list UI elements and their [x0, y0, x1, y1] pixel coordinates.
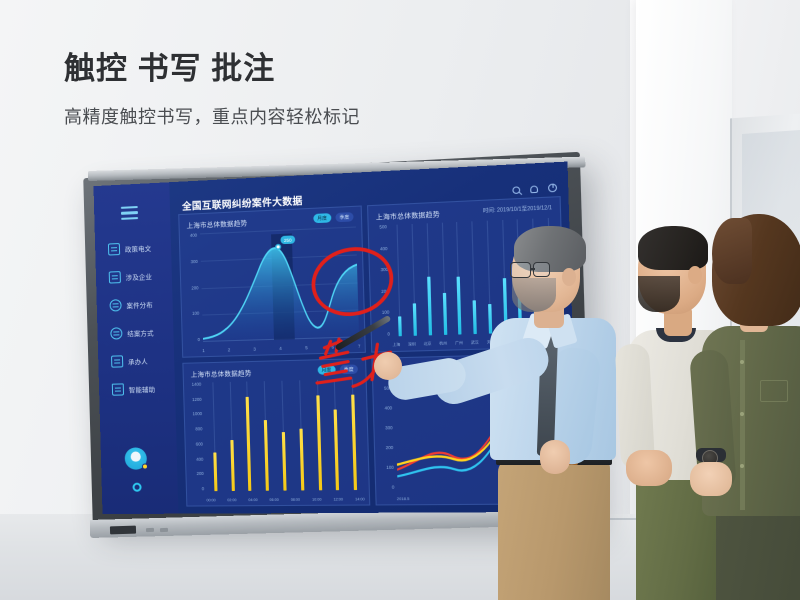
toggle-quarterly[interactable]: 季度: [335, 212, 353, 222]
x-tick: 00:00: [206, 498, 215, 502]
y-tick: 100: [380, 465, 394, 470]
sidebar-label-settlement: 结案方式: [127, 328, 154, 338]
bar-column: [344, 379, 365, 490]
lock-icon: [112, 383, 124, 395]
y-tick: 400: [190, 456, 203, 461]
bar: [299, 429, 304, 490]
y-tick: 1400: [188, 382, 201, 387]
eyeglasses: [510, 262, 531, 278]
distribution-icon: [109, 299, 121, 311]
y-tick: 600: [190, 441, 203, 446]
panel-1-tooltip: 250: [280, 236, 294, 244]
x-tick: 6: [331, 344, 334, 349]
y-tick: 0: [380, 485, 394, 490]
bar: [264, 420, 269, 490]
y-tick: 800: [189, 426, 202, 431]
bar: [351, 394, 357, 490]
sidebar-label-person: 承办人: [128, 356, 148, 366]
person-icon: [111, 355, 123, 367]
sidebar-label-assist: 智能辅助: [129, 384, 156, 394]
port-indicator-2: [160, 528, 168, 532]
sidebar-item-policy[interactable]: 政策电文: [95, 235, 171, 262]
y-tick: 500: [373, 224, 387, 230]
port-indicator-1: [146, 528, 154, 532]
y-tick: 200: [190, 471, 203, 476]
y-tick: 1000: [189, 411, 202, 416]
x-tick: 2018.5: [397, 497, 410, 501]
y-tick: 100: [186, 311, 199, 317]
company-icon: [109, 271, 121, 283]
avatar-status-dot: [142, 463, 148, 469]
sidebar-item-settlement[interactable]: 结案方式: [97, 320, 174, 346]
panel-3-toggles: 月度 季度: [317, 364, 358, 374]
panel-3-x-axis: 00:0002:0004:0006:0008:0010:0012:0014:00: [206, 497, 364, 502]
y-tick: 300: [374, 267, 388, 273]
x-tick: 02:00: [227, 498, 236, 502]
y-tick: 1200: [188, 397, 201, 402]
y-tick: 200: [185, 285, 198, 291]
panel-1-plot: 250: [200, 227, 359, 342]
x-tick: 5: [305, 345, 308, 350]
bar: [213, 452, 217, 491]
bar: [334, 410, 339, 491]
bar: [230, 440, 235, 491]
usb-port: [110, 526, 136, 535]
x-tick: 14:00: [355, 497, 365, 501]
sidebar-item-company[interactable]: 涉及企业: [96, 263, 172, 290]
y-tick: 300: [379, 425, 393, 430]
page-subtitle: 高精度触控书写，重点内容轻松标记: [64, 103, 360, 129]
panel-1-toggles: 月度 季度: [313, 212, 354, 223]
panel-3-plot: [204, 379, 364, 491]
sidebar-label-policy: 政策电文: [125, 243, 152, 253]
sidebar-label-distribution: 案件分布: [126, 300, 153, 310]
x-tick: 上海: [392, 343, 400, 348]
bar: [427, 277, 432, 335]
headline-block: 触控 书写 批注 高精度触控书写，重点内容轻松标记: [64, 50, 360, 129]
policy-icon: [108, 243, 120, 256]
sidebar-item-assist[interactable]: 智能辅助: [99, 376, 176, 402]
x-tick: 08:00: [291, 498, 301, 502]
toggle-monthly-2[interactable]: 月度: [317, 365, 335, 375]
bar: [398, 316, 402, 336]
bar: [246, 397, 252, 491]
x-tick: 4: [279, 346, 282, 351]
y-tick: 400: [378, 405, 392, 410]
sidebar-item-person[interactable]: 承办人: [98, 348, 175, 374]
x-tick: 北京: [424, 342, 432, 347]
settlement-icon: [110, 327, 122, 339]
people-group: [440, 0, 800, 600]
user-avatar[interactable]: [124, 447, 147, 469]
panel-4-y-axis: 500 400 300 200 100 0: [378, 385, 395, 489]
x-tick: 深圳: [408, 342, 416, 347]
x-tick: 3: [253, 347, 256, 352]
bar: [282, 432, 287, 491]
panel-3-y-axis: 1400 1200 1000 800 600 400 200 0: [188, 382, 204, 492]
x-tick: 7: [358, 344, 361, 349]
sidebar-label-company: 涉及企业: [126, 271, 153, 281]
toggle-monthly[interactable]: 月度: [313, 213, 331, 223]
x-tick: 2: [228, 347, 231, 352]
dashboard-sidebar: 政策电文 涉及企业 案件分布 结案方式 承办人: [93, 182, 178, 514]
y-tick: 0: [376, 331, 390, 337]
presenter-pointing-hand: [374, 352, 402, 380]
panel-1-y-axis: 400 300 200 100 0: [184, 233, 200, 343]
y-tick: 200: [375, 288, 389, 294]
y-tick: 400: [374, 246, 388, 252]
y-tick: 0: [191, 486, 204, 491]
panel-hourly-bars[interactable]: 上海市总体数据趋势 月度 季度 1400 1200 1000 800 600 4…: [182, 358, 370, 507]
sidebar-item-distribution[interactable]: 案件分布: [96, 291, 172, 318]
x-tick: 06:00: [269, 498, 278, 502]
x-tick: 04:00: [248, 498, 257, 502]
x-tick: 1: [202, 348, 205, 353]
y-tick: 200: [379, 445, 393, 450]
page-title: 触控 书写 批注: [64, 50, 360, 89]
gear-icon[interactable]: [132, 483, 141, 492]
x-tick: 12:00: [333, 497, 343, 501]
panel-trend-area[interactable]: 上海市总体数据趋势 月度 季度 400 300 200 100 0: [178, 205, 366, 357]
toggle-quarterly-2[interactable]: 季度: [339, 364, 358, 374]
sidebar-nav-list: 政策电文 涉及企业 案件分布 结案方式 承办人: [95, 235, 176, 406]
y-tick: 300: [185, 259, 198, 265]
bar: [316, 396, 322, 491]
y-tick: 400: [184, 233, 197, 239]
bar: [413, 303, 417, 336]
x-tick: 10:00: [312, 498, 322, 502]
y-tick: 0: [187, 337, 200, 342]
hamburger-icon[interactable]: [121, 206, 138, 220]
